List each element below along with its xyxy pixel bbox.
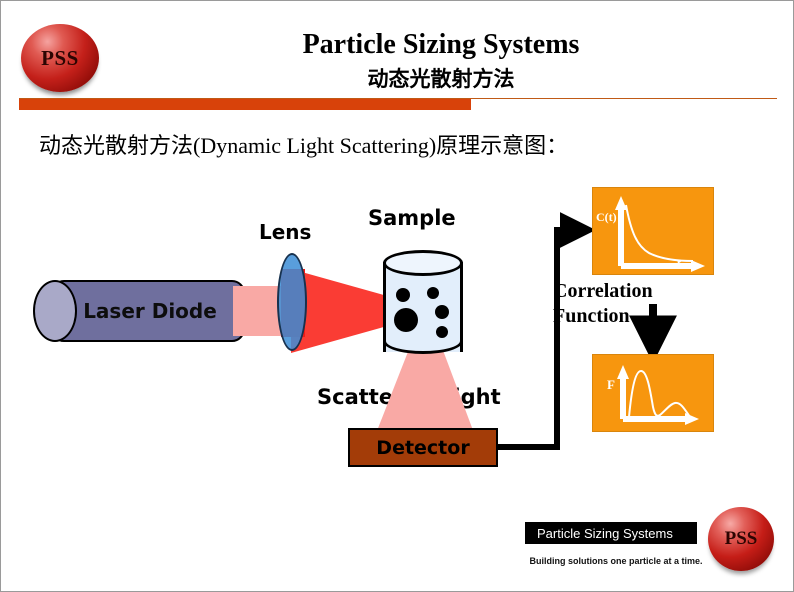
footer-tagline: Building solutions one particle at a tim… <box>528 556 704 566</box>
sample-cuvette <box>383 250 463 354</box>
detector-to-chart-path <box>498 230 579 447</box>
sample-particle <box>394 308 418 332</box>
sample-particle <box>436 326 448 338</box>
cuvette-top-ellipse <box>383 250 463 276</box>
sample-particle <box>396 288 410 302</box>
chart-ylabel-ct: C(t) <box>596 210 617 225</box>
header-divider-thick <box>19 99 471 110</box>
laser-diode: Laser Diode <box>33 280 245 342</box>
lens-label: Lens <box>259 220 311 244</box>
sample-particle <box>427 287 439 299</box>
laser-diode-label: Laser Diode <box>55 280 245 342</box>
footer-banner-text: Particle Sizing Systems <box>537 526 673 541</box>
chart-distribution-svg <box>593 355 713 431</box>
header-pss-logo: PSS <box>21 24 99 94</box>
header-logo-text: PSS <box>21 24 99 92</box>
sample-particle <box>435 305 449 319</box>
distribution-curve <box>629 371 690 417</box>
page-subtitle-cn: 动态光散射方法 <box>121 63 761 93</box>
detector-block: Detector <box>348 428 498 467</box>
correlation-function-label: Correlation Function <box>553 279 683 329</box>
correlation-decay-curve <box>626 205 693 261</box>
lens-element <box>277 253 307 351</box>
chart-ylabel-f: F <box>607 377 615 393</box>
chart-correlation-svg <box>593 188 713 274</box>
footer-banner: Particle Sizing Systems <box>525 522 697 544</box>
chart-correlation-function: C(t) t <box>592 187 714 275</box>
chart-xlabel-t: t <box>677 256 681 271</box>
body-subtitle: 动态光散射方法(Dynamic Light Scattering)原理示意图： <box>39 128 568 160</box>
sample-label: Sample <box>368 206 456 230</box>
footer-pss-logo: PSS <box>708 507 774 573</box>
slide-canvas: PSS Particle Sizing Systems 动态光散射方法 动态光散… <box>0 0 794 592</box>
chart-size-distribution: F <box>592 354 714 432</box>
detector-label: Detector <box>376 437 469 459</box>
footer-logo-text: PSS <box>708 507 774 571</box>
page-title: Particle Sizing Systems <box>121 29 761 61</box>
